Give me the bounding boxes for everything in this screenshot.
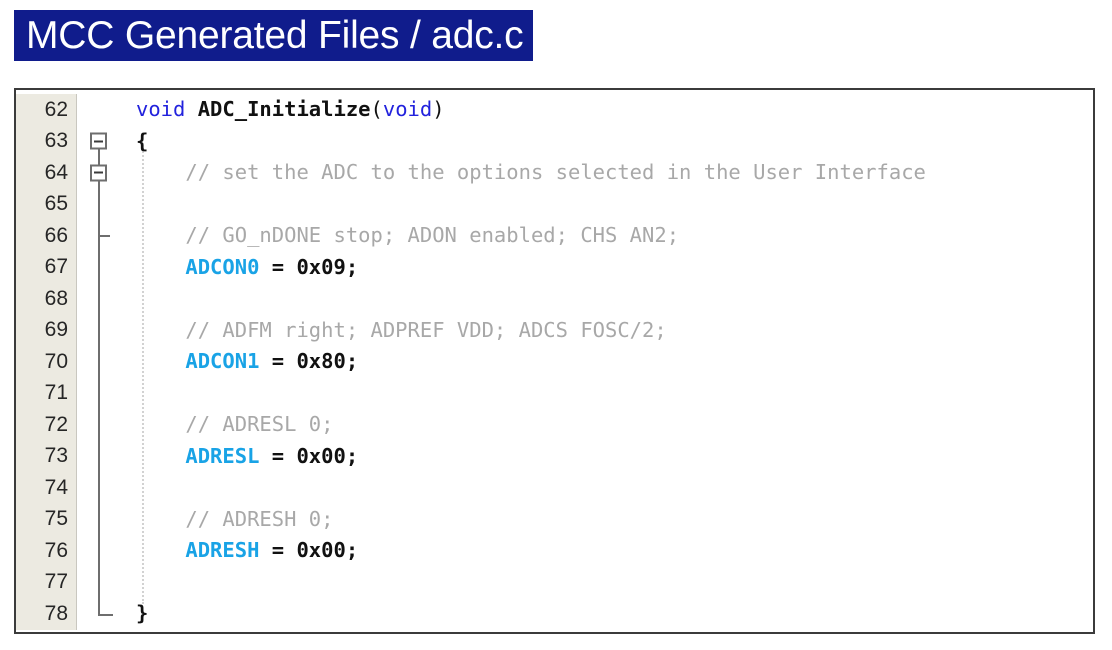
page-title: MCC Generated Files / adc.c — [26, 16, 523, 55]
fold-connector-line — [98, 441, 100, 473]
line-number: 68 — [16, 287, 77, 311]
code-token-fn: ADC_Initialize — [198, 97, 371, 121]
code-line[interactable]: 74 — [16, 472, 1093, 504]
fold-connector-line — [98, 315, 100, 347]
code-line[interactable]: 73 ADRESL = 0x00; — [16, 441, 1093, 473]
code-line[interactable]: 72 // ADRESL 0; — [16, 409, 1093, 441]
code-text[interactable]: // ADFM right; ADPREF VDD; ADCS FOSC/2; — [121, 315, 1093, 347]
fold-column[interactable] — [77, 283, 121, 315]
code-text[interactable]: // set the ADC to the options selected i… — [121, 157, 1093, 189]
fold-column[interactable] — [77, 94, 121, 126]
code-line-list: 62void ADC_Initialize(void)63{64 // set … — [16, 90, 1093, 630]
code-line[interactable]: 75 // ADRESH 0; — [16, 504, 1093, 536]
code-token-comment: // ADRESL 0; — [136, 412, 333, 436]
line-number: 77 — [16, 570, 77, 594]
fold-column[interactable] — [77, 598, 121, 630]
line-number: 78 — [16, 602, 77, 626]
fold-column[interactable] — [77, 535, 121, 567]
code-text[interactable]: { — [121, 126, 1093, 158]
fold-collapse-icon[interactable] — [90, 164, 107, 181]
code-token-num: = 0x00; — [259, 444, 358, 468]
code-text[interactable]: } — [121, 598, 1093, 630]
code-token-comment: // set the ADC to the options selected i… — [136, 160, 926, 184]
fold-end-marker — [98, 598, 113, 616]
code-line[interactable]: 76 ADRESH = 0x00; — [16, 535, 1093, 567]
code-token-reg: ADCON0 — [136, 255, 259, 279]
line-number: 66 — [16, 224, 77, 248]
code-text[interactable]: // GO_nDONE stop; ADON enabled; CHS AN2; — [121, 220, 1093, 252]
page-title-banner: MCC Generated Files / adc.c — [14, 10, 533, 61]
line-number: 63 — [16, 129, 77, 153]
line-number: 76 — [16, 539, 77, 563]
line-number: 75 — [16, 507, 77, 531]
code-line[interactable]: 77 — [16, 567, 1093, 599]
code-text[interactable]: // ADRESH 0; — [121, 504, 1093, 536]
code-editor-panel[interactable]: 62void ADC_Initialize(void)63{64 // set … — [14, 88, 1095, 634]
line-number: 71 — [16, 381, 77, 405]
fold-connector-line — [98, 189, 100, 221]
code-line[interactable]: 67 ADCON0 = 0x09; — [16, 252, 1093, 284]
code-line[interactable]: 69 // ADFM right; ADPREF VDD; ADCS FOSC/… — [16, 315, 1093, 347]
fold-column[interactable] — [77, 409, 121, 441]
line-number: 70 — [16, 350, 77, 374]
fold-column[interactable] — [77, 378, 121, 410]
fold-column[interactable] — [77, 157, 121, 189]
line-number: 73 — [16, 444, 77, 468]
fold-column[interactable] — [77, 567, 121, 599]
fold-column[interactable] — [77, 315, 121, 347]
code-token-kw: void — [383, 97, 432, 121]
code-token-punct: ) — [432, 97, 444, 121]
code-token-comment: // GO_nDONE stop; ADON enabled; CHS AN2; — [136, 223, 679, 247]
line-number: 69 — [16, 318, 77, 342]
code-text[interactable]: void ADC_Initialize(void) — [121, 94, 1093, 126]
code-token-punct: ( — [371, 97, 383, 121]
fold-connector-line — [98, 567, 100, 599]
fold-column[interactable] — [77, 472, 121, 504]
fold-collapse-icon[interactable] — [90, 133, 107, 150]
fold-column[interactable] — [77, 220, 121, 252]
code-text[interactable]: // ADRESL 0; — [121, 409, 1093, 441]
fold-column[interactable] — [77, 504, 121, 536]
fold-column[interactable] — [77, 189, 121, 221]
fold-connector-line — [98, 283, 100, 315]
fold-branch-tick — [99, 235, 110, 237]
code-line[interactable]: 62void ADC_Initialize(void) — [16, 94, 1093, 126]
line-number: 67 — [16, 255, 77, 279]
code-line[interactable]: 65 — [16, 189, 1093, 221]
fold-column[interactable] — [77, 441, 121, 473]
fold-connector-line — [98, 252, 100, 284]
line-number: 64 — [16, 161, 77, 185]
code-text[interactable]: ADCON0 = 0x09; — [121, 252, 1093, 284]
fold-connector-line — [98, 378, 100, 410]
code-text[interactable]: ADRESL = 0x00; — [121, 441, 1093, 473]
code-token-comment: // ADRESH 0; — [136, 507, 333, 531]
code-line[interactable]: 68 — [16, 283, 1093, 315]
code-text[interactable]: ADCON1 = 0x80; — [121, 346, 1093, 378]
code-token-num: = 0x80; — [259, 349, 358, 373]
fold-connector-line — [98, 346, 100, 378]
code-line[interactable]: 64 // set the ADC to the options selecte… — [16, 157, 1093, 189]
code-line[interactable]: 78} — [16, 598, 1093, 630]
code-token-plain: { — [136, 129, 148, 153]
fold-connector-line — [98, 504, 100, 536]
line-number: 65 — [16, 192, 77, 216]
fold-connector-line — [98, 409, 100, 441]
code-token-plain — [185, 97, 197, 121]
code-token-reg: ADCON1 — [136, 349, 259, 373]
code-line[interactable]: 70 ADCON1 = 0x80; — [16, 346, 1093, 378]
code-token-reg: ADRESH — [136, 538, 259, 562]
line-number: 72 — [16, 413, 77, 437]
code-token-comment: // ADFM right; ADPREF VDD; ADCS FOSC/2; — [136, 318, 667, 342]
code-text[interactable]: ADRESH = 0x00; — [121, 535, 1093, 567]
code-line[interactable]: 63{ — [16, 126, 1093, 158]
code-token-num: = 0x09; — [259, 255, 358, 279]
line-number: 62 — [16, 98, 77, 122]
code-token-plain: } — [136, 601, 148, 625]
fold-connector-line — [98, 472, 100, 504]
line-number: 74 — [16, 476, 77, 500]
code-token-num: = 0x00; — [259, 538, 358, 562]
fold-column[interactable] — [77, 126, 121, 158]
code-line[interactable]: 71 — [16, 378, 1093, 410]
fold-column[interactable] — [77, 252, 121, 284]
code-token-reg: ADRESL — [136, 444, 259, 468]
fold-column[interactable] — [77, 346, 121, 378]
code-line[interactable]: 66 // GO_nDONE stop; ADON enabled; CHS A… — [16, 220, 1093, 252]
fold-connector-line — [98, 535, 100, 567]
code-token-kw: void — [136, 97, 185, 121]
